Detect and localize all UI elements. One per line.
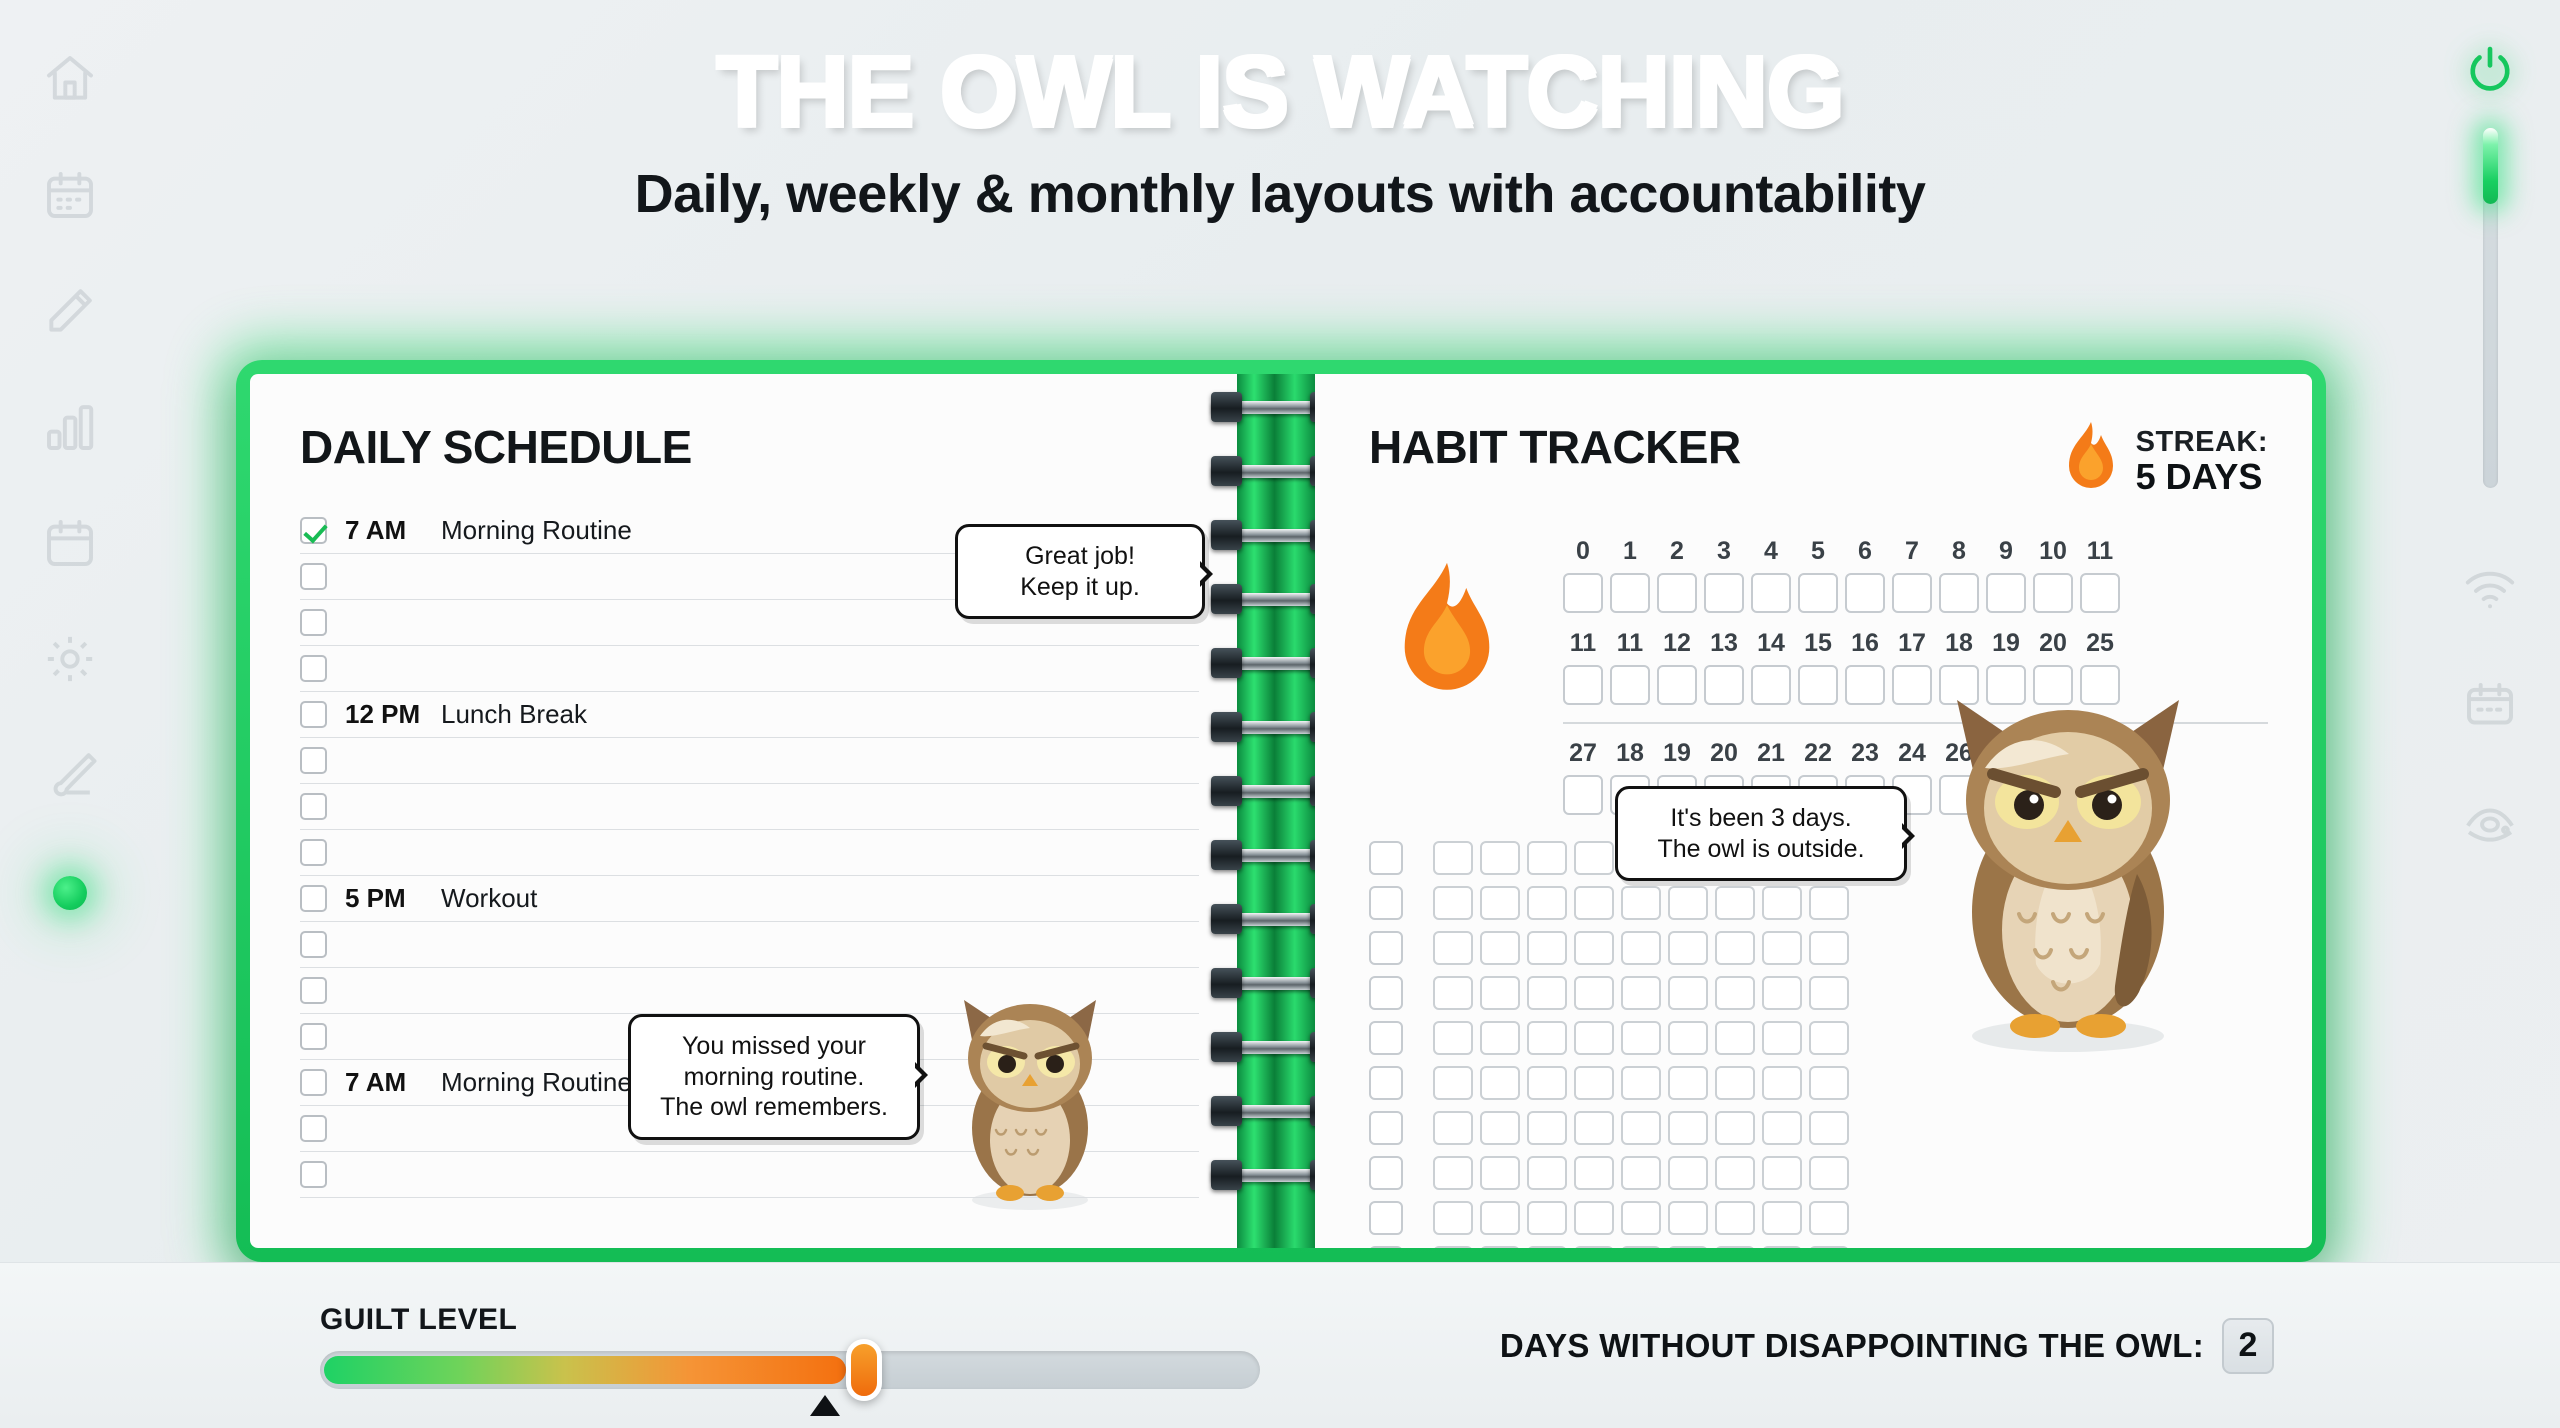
notebook-spine <box>1237 374 1315 1248</box>
status-indicator-green <box>53 876 87 910</box>
habit-cell[interactable] <box>1668 1111 1708 1145</box>
schedule-label: Workout <box>441 883 537 914</box>
tracker-day-checkbox[interactable] <box>2080 573 2120 613</box>
schedule-checkbox[interactable] <box>300 793 327 820</box>
schedule-time: 7 AM <box>345 1067 427 1098</box>
tracker-day-number: 16 <box>1845 629 1885 658</box>
habit-cell[interactable] <box>1762 931 1802 965</box>
tracker-day-number: 1 <box>1610 537 1650 566</box>
habit-row-checkbox[interactable] <box>1369 1201 1403 1235</box>
habit-cell[interactable] <box>1715 931 1755 965</box>
left-sidebar <box>0 0 140 1428</box>
habit-cell[interactable] <box>1715 1021 1755 1055</box>
tracker-day-number: 2 <box>1657 537 1697 566</box>
tracker-day-number: 20 <box>2033 629 2073 658</box>
habit-cell[interactable] <box>1574 1156 1614 1190</box>
tracker-day-number: 19 <box>1986 629 2026 658</box>
habit-cell[interactable] <box>1574 1021 1614 1055</box>
guilt-level-group: GUILT LEVEL <box>320 1303 1260 1389</box>
tracker-day-checkbox[interactable] <box>1657 665 1697 705</box>
habit-row-checkbox[interactable] <box>1369 931 1403 965</box>
owl-bubble-warning: It's been 3 days. The owl is outside. <box>1615 786 1907 881</box>
habit-cell[interactable] <box>1809 1201 1849 1235</box>
habit-cell[interactable] <box>1668 1201 1708 1235</box>
page-header: THE OWL IS WATCHING Daily, weekly & mont… <box>0 40 2560 225</box>
habit-cell[interactable] <box>1527 1246 1567 1248</box>
habit-cell[interactable] <box>1433 1021 1473 1055</box>
habit-cell[interactable] <box>1574 931 1614 965</box>
page-subtitle: Daily, weekly & monthly layouts with acc… <box>0 163 2560 225</box>
tracker-day-checkbox[interactable] <box>1845 573 1885 613</box>
guilt-level-marker <box>810 1395 840 1416</box>
gear-icon[interactable] <box>39 628 101 690</box>
habit-row <box>1433 1111 1849 1145</box>
habit-cell[interactable] <box>1668 1066 1708 1100</box>
schedule-time: 5 PM <box>345 883 427 914</box>
habit-cell[interactable] <box>1480 931 1520 965</box>
calendar-icon[interactable] <box>2459 674 2521 736</box>
title-part-3: IS WATCHING <box>1169 36 1844 148</box>
schedule-label: Morning Routine <box>441 1067 632 1098</box>
notebook: DAILY SCHEDULE 7 AMMorning Routine12 PML… <box>236 360 2326 1262</box>
habit-cell[interactable] <box>1480 886 1520 920</box>
schedule-checkbox[interactable] <box>300 977 327 1004</box>
tracker-day-number: 14 <box>1751 629 1791 658</box>
habit-cell[interactable] <box>1433 1156 1473 1190</box>
habit-cell[interactable] <box>1715 1246 1755 1248</box>
schedule-time: 7 AM <box>345 515 427 546</box>
habit-cell[interactable] <box>1433 1201 1473 1235</box>
habit-cell[interactable] <box>1621 886 1661 920</box>
owl-bubble-praise: Great job! Keep it up. <box>955 524 1205 619</box>
tracker-day-number: 4 <box>1751 537 1791 566</box>
habit-cell[interactable] <box>1527 1111 1567 1145</box>
habit-row-checkbox[interactable] <box>1369 976 1403 1010</box>
habit-cell[interactable] <box>1809 1111 1849 1145</box>
habit-cell[interactable] <box>1762 976 1802 1010</box>
habit-cell[interactable] <box>1574 886 1614 920</box>
tracker-day-checkbox[interactable] <box>1704 665 1744 705</box>
habit-cell[interactable] <box>1433 976 1473 1010</box>
habit-cell[interactable] <box>1480 1021 1520 1055</box>
tracker-day-checkbox[interactable] <box>1798 665 1838 705</box>
habit-cell[interactable] <box>1762 1111 1802 1145</box>
flame-icon <box>1387 559 1507 714</box>
habit-cell[interactable] <box>1621 1111 1661 1145</box>
tracker-day-number: 23 <box>1845 739 1885 768</box>
habit-cell[interactable] <box>1715 886 1755 920</box>
calendar-icon[interactable] <box>39 164 101 226</box>
tracker-day-checkbox[interactable] <box>1563 573 1603 613</box>
habit-cell[interactable] <box>1527 1021 1567 1055</box>
tracker-day-checkbox[interactable] <box>1563 665 1603 705</box>
tracker-day-number: 13 <box>1704 629 1744 658</box>
days-counter-label: DAYS WITHOUT DISAPPOINTING THE OWL: <box>1500 1327 2204 1365</box>
schedule-row[interactable] <box>300 784 1199 830</box>
habit-cell[interactable] <box>1809 1246 1849 1248</box>
habit-cell[interactable] <box>1527 841 1567 875</box>
streak-label: STREAK: <box>2136 427 2268 457</box>
title-part-owl: OWL <box>940 36 1168 148</box>
calendar-icon[interactable] <box>39 512 101 574</box>
habit-cell[interactable] <box>1480 1156 1520 1190</box>
schedule-checkbox[interactable] <box>300 747 327 774</box>
habit-cell[interactable] <box>1715 1156 1755 1190</box>
tracker-day-number: 11 <box>1563 629 1603 658</box>
tracker-day-number: 11 <box>2080 537 2120 566</box>
tracker-day-checkbox[interactable] <box>1751 573 1791 613</box>
wifi-icon[interactable] <box>2459 558 2521 620</box>
habit-cell[interactable] <box>1574 1066 1614 1100</box>
tracker-day-number: 17 <box>1892 629 1932 658</box>
habit-cell[interactable] <box>1809 1156 1849 1190</box>
habit-cell[interactable] <box>1480 1066 1520 1100</box>
brush-icon[interactable] <box>39 744 101 806</box>
tracker-day-number: 12 <box>1657 629 1697 658</box>
guilt-level-slider[interactable] <box>320 1351 1260 1389</box>
tracker-day-checkbox[interactable] <box>1798 573 1838 613</box>
habit-cell[interactable] <box>1762 1246 1802 1248</box>
home-icon[interactable] <box>39 48 101 110</box>
power-icon[interactable] <box>2459 40 2521 102</box>
habit-cell[interactable] <box>1527 886 1567 920</box>
tracker-day-checkbox[interactable] <box>1704 573 1744 613</box>
tracker-day-number: 10 <box>2033 537 2073 566</box>
habit-cell[interactable] <box>1527 976 1567 1010</box>
schedule-checkbox[interactable] <box>300 655 327 682</box>
tracker-day-number: 11 <box>1610 629 1650 658</box>
tracker-day-checkbox[interactable] <box>1939 573 1979 613</box>
tracker-day-number: 19 <box>1657 739 1697 768</box>
schedule-checkbox[interactable] <box>300 1115 327 1142</box>
habit-cell[interactable] <box>1433 931 1473 965</box>
habit-cell[interactable] <box>1621 1156 1661 1190</box>
schedule-checkbox[interactable] <box>300 609 327 636</box>
habit-cell[interactable] <box>1621 1201 1661 1235</box>
tracker-day-number: 25 <box>2080 629 2120 658</box>
bubble-line: The owl is outside. <box>1638 834 1884 865</box>
habit-cell[interactable] <box>1809 886 1849 920</box>
habit-row <box>1433 931 1849 965</box>
guilt-level-thumb[interactable] <box>846 1339 882 1401</box>
brightness-slider[interactable] <box>2483 128 2498 488</box>
tracker-day-number: 20 <box>1704 739 1744 768</box>
habit-row <box>1433 1066 1849 1100</box>
habit-cell[interactable] <box>1762 1021 1802 1055</box>
owl-stern <box>1923 674 2213 1059</box>
owl-bubble-scold: You missed your morning routine. The owl… <box>628 1014 920 1140</box>
habit-row-checkbox[interactable] <box>1369 1111 1403 1145</box>
habit-row-checkbox[interactable] <box>1369 1066 1403 1100</box>
tracker-day-number: 18 <box>1939 629 1979 658</box>
bubble-line: Great job! <box>978 541 1182 572</box>
daily-schedule-page: DAILY SCHEDULE 7 AMMorning Routine12 PML… <box>250 374 1237 1248</box>
tracker-day-number: 15 <box>1798 629 1838 658</box>
schedule-checkbox[interactable] <box>300 701 327 728</box>
habit-row <box>1433 976 1849 1010</box>
tracker-day-number: 27 <box>1563 739 1603 768</box>
habit-row <box>1433 1201 1849 1235</box>
bubble-line: It's been 3 days. <box>1638 803 1884 834</box>
habit-cell[interactable] <box>1574 976 1614 1010</box>
tracker-day-checkbox[interactable] <box>1751 665 1791 705</box>
schedule-checkbox[interactable] <box>300 1161 327 1188</box>
habit-cell[interactable] <box>1527 1156 1567 1190</box>
schedule-checkbox[interactable] <box>300 563 327 590</box>
habit-cell[interactable] <box>1527 1066 1567 1100</box>
tracker-day-number: 5 <box>1798 537 1838 566</box>
habit-name-checkboxes[interactable] <box>1369 841 1403 1248</box>
habit-cell[interactable] <box>1527 1201 1567 1235</box>
tracker-day-number: 9 <box>1986 537 2026 566</box>
schedule-row[interactable] <box>300 830 1199 876</box>
bar-chart-icon[interactable] <box>39 396 101 458</box>
habit-cell[interactable] <box>1621 1246 1661 1248</box>
habit-cell[interactable] <box>1762 1066 1802 1100</box>
tracker-day-number: 22 <box>1798 739 1838 768</box>
schedule-row[interactable] <box>300 646 1199 692</box>
days-counter-value: 2 <box>2222 1318 2274 1374</box>
habit-cell[interactable] <box>1809 931 1849 965</box>
tracker-day-number: 21 <box>1751 739 1791 768</box>
tracker-day-checkbox[interactable] <box>1657 573 1697 613</box>
tracker-day-number: 3 <box>1704 537 1744 566</box>
habit-cell[interactable] <box>1433 1246 1473 1248</box>
habit-cell[interactable] <box>1809 976 1849 1010</box>
habit-cell[interactable] <box>1433 886 1473 920</box>
schedule-label: Lunch Break <box>441 699 587 730</box>
schedule-row[interactable] <box>300 738 1199 784</box>
schedule-checkbox[interactable] <box>300 1023 327 1050</box>
tracker-day-checkbox[interactable] <box>1610 665 1650 705</box>
bubble-line: Keep it up. <box>978 572 1182 603</box>
habit-cell[interactable] <box>1668 976 1708 1010</box>
camera-icon[interactable] <box>2459 790 2521 852</box>
habit-cell[interactable] <box>1621 1021 1661 1055</box>
habit-cell[interactable] <box>1715 1111 1755 1145</box>
tracker-day-checkbox[interactable] <box>1610 573 1650 613</box>
schedule-checkbox[interactable] <box>300 885 327 912</box>
tracker-day-number: 6 <box>1845 537 1885 566</box>
tracker-day-number: 18 <box>1610 739 1650 768</box>
habit-row-checkbox[interactable] <box>1369 841 1403 875</box>
habit-cell[interactable] <box>1480 1111 1520 1145</box>
bubble-line: The owl remembers. <box>651 1092 897 1123</box>
brightness-slider-fill <box>2483 128 2498 204</box>
habit-cell[interactable] <box>1621 931 1661 965</box>
schedule-checkbox[interactable] <box>300 931 327 958</box>
habit-row <box>1433 1021 1849 1055</box>
tracker-row-1-numbers: 01234567891011 <box>1563 537 2268 566</box>
schedule-row[interactable]: 12 PMLunch Break <box>300 692 1199 738</box>
habit-cell[interactable] <box>1480 976 1520 1010</box>
habit-row-checkbox[interactable] <box>1369 1021 1403 1055</box>
habit-cell[interactable] <box>1574 1201 1614 1235</box>
habit-cell[interactable] <box>1527 931 1567 965</box>
habit-cell[interactable] <box>1715 976 1755 1010</box>
schedule-checkbox[interactable] <box>300 839 327 866</box>
guilt-level-label: GUILT LEVEL <box>320 1303 1260 1337</box>
habit-row <box>1433 886 1849 920</box>
habit-cell[interactable] <box>1621 1066 1661 1100</box>
habit-tracker-title: HABIT TRACKER <box>1369 420 1741 474</box>
habit-cell[interactable] <box>1574 841 1614 875</box>
tracker-day-checkbox[interactable] <box>1986 573 2026 613</box>
tracker-row-1-boxes[interactable] <box>1563 573 2268 613</box>
schedule-checkbox[interactable] <box>300 517 327 544</box>
habit-cell[interactable] <box>1480 841 1520 875</box>
tracker-day-number: 7 <box>1892 537 1932 566</box>
habit-grid[interactable] <box>1433 841 1849 1248</box>
days-counter: DAYS WITHOUT DISAPPOINTING THE OWL: 2 <box>1500 1318 2274 1374</box>
habit-row <box>1433 1246 1849 1248</box>
tracker-day-checkbox[interactable] <box>2033 573 2073 613</box>
right-sidebar <box>2420 0 2560 1428</box>
schedule-checkbox[interactable] <box>300 1069 327 1096</box>
schedule-label: Morning Routine <box>441 515 632 546</box>
status-bar: GUILT LEVEL DAYS WITHOUT DISAPPOINTING T… <box>0 1262 2560 1428</box>
habit-row-checkbox[interactable] <box>1369 1156 1403 1190</box>
habit-cell[interactable] <box>1621 976 1661 1010</box>
habit-cell[interactable] <box>1762 1156 1802 1190</box>
habit-row <box>1433 1156 1849 1190</box>
owl-with-glasses <box>1235 512 1237 752</box>
daily-schedule-title: DAILY SCHEDULE <box>300 420 1199 474</box>
habit-cell[interactable] <box>1574 1246 1614 1248</box>
habit-cell[interactable] <box>1574 1111 1614 1145</box>
habit-cell[interactable] <box>1480 1201 1520 1235</box>
habit-cell[interactable] <box>1668 886 1708 920</box>
habit-cell[interactable] <box>1809 1066 1849 1100</box>
habit-cell[interactable] <box>1668 1021 1708 1055</box>
habit-cell[interactable] <box>1433 841 1473 875</box>
tracker-day-checkbox[interactable] <box>1892 573 1932 613</box>
habit-cell[interactable] <box>1433 1111 1473 1145</box>
habit-cell[interactable] <box>1433 1066 1473 1100</box>
schedule-row[interactable] <box>300 922 1199 968</box>
flame-icon <box>2060 420 2122 503</box>
page-title: THE OWL IS WATCHING <box>0 40 2560 145</box>
streak-value: 5 DAYS <box>2136 458 2268 496</box>
habit-cell[interactable] <box>1668 1246 1708 1248</box>
schedule-row[interactable]: 5 PMWorkout <box>300 876 1199 922</box>
habit-cell[interactable] <box>1809 1021 1849 1055</box>
habit-cell[interactable] <box>1762 886 1802 920</box>
tracker-day-checkbox[interactable] <box>1563 775 1603 815</box>
habit-cell[interactable] <box>1480 1246 1520 1248</box>
title-part-1: THE <box>716 36 940 148</box>
habit-cell[interactable] <box>1668 1156 1708 1190</box>
tracker-day-number: 0 <box>1563 537 1603 566</box>
tracker-day-number: 8 <box>1939 537 1979 566</box>
pencil-icon[interactable] <box>39 280 101 342</box>
bubble-line: You missed your <box>651 1031 897 1062</box>
schedule-time: 12 PM <box>345 699 427 730</box>
habit-tracker-page: HABIT TRACKER STREAK: 5 DAYS <box>1315 374 2312 1248</box>
habit-cell[interactable] <box>1762 1201 1802 1235</box>
habit-cell[interactable] <box>1715 1201 1755 1235</box>
owl-annoyed <box>940 982 1120 1217</box>
guilt-level-fill <box>324 1356 846 1384</box>
tracker-day-checkbox[interactable] <box>1845 665 1885 705</box>
tracker-row-2-numbers: 111112131415161718192025 <box>1563 629 2268 658</box>
habit-cell[interactable] <box>1668 931 1708 965</box>
habit-cell[interactable] <box>1715 1066 1755 1100</box>
bubble-line: morning routine. <box>651 1062 897 1093</box>
streak-badge: STREAK: 5 DAYS <box>2060 420 2268 503</box>
habit-row-checkbox[interactable] <box>1369 886 1403 920</box>
habit-row-checkbox[interactable] <box>1369 1246 1403 1248</box>
